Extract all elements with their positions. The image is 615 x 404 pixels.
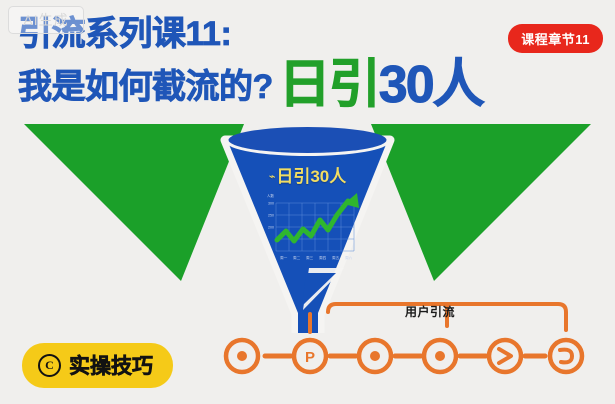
- node-dot-1: [226, 340, 258, 372]
- node-dot-3: [424, 340, 456, 372]
- node-dot-2: [359, 340, 391, 372]
- copyright-icon: C: [38, 354, 61, 377]
- chart-growth-line: [277, 201, 348, 241]
- headline-line-2-row: 我是如何截流的? 日引30人: [18, 55, 483, 107]
- headline-line-1: 引流系列课11:: [18, 16, 483, 53]
- chain-label: 用户引流: [405, 303, 455, 320]
- node-p: P: [294, 340, 326, 372]
- poster-canvas: AI生成 引流系列课11: 我是如何截流的? 日引30人 课程章节11: [0, 0, 615, 404]
- chart-x-axis-labels: 周一 周二 周三 周四 周五 周六: [280, 255, 353, 260]
- chart-y-axis-title: 人数: [267, 193, 275, 198]
- node-arrow-1: [489, 340, 521, 372]
- chart-x-tick-0: 周一: [280, 255, 288, 260]
- headline-line-2: 我是如何截流的?: [18, 69, 273, 106]
- chart-y-tick-2: 200: [268, 226, 274, 230]
- node-arrow-2: [550, 340, 582, 372]
- ai-generated-watermark: AI生成: [8, 6, 84, 34]
- chart-y-tick-0: 300: [268, 202, 274, 206]
- headline-highlight-blue: 30人: [379, 56, 483, 114]
- funnel-rim: [229, 127, 387, 153]
- chart-x-tick-5: 周六: [345, 255, 353, 260]
- chart-x-tick-2: 周三: [306, 255, 314, 260]
- chart-y-axis-labels: 人数 300 250 200: [267, 193, 275, 230]
- svg-text:P: P: [305, 349, 315, 366]
- chapter-badge: 课程章节11: [508, 24, 603, 53]
- practical-tips-pill: C 实操技巧: [22, 343, 173, 388]
- chart-x-tick-1: 周二: [293, 255, 301, 260]
- headline-highlight: 日引30人: [279, 59, 483, 111]
- headline-highlight-green: 日引: [279, 56, 379, 114]
- practical-tips-label: 实操技巧: [69, 350, 153, 380]
- chart-x-tick-3: 周四: [319, 255, 327, 260]
- green-wing-right: [371, 124, 591, 281]
- mini-growth-chart: 人数 300 250 200 周一 周二 周三 周四 周五 周六: [258, 193, 366, 275]
- headline-block: 引流系列课11: 我是如何截流的? 日引30人: [18, 16, 483, 107]
- chart-x-tick-4: 周五: [332, 255, 340, 260]
- chart-y-tick-1: 250: [268, 214, 274, 218]
- green-wing-left: [24, 124, 244, 281]
